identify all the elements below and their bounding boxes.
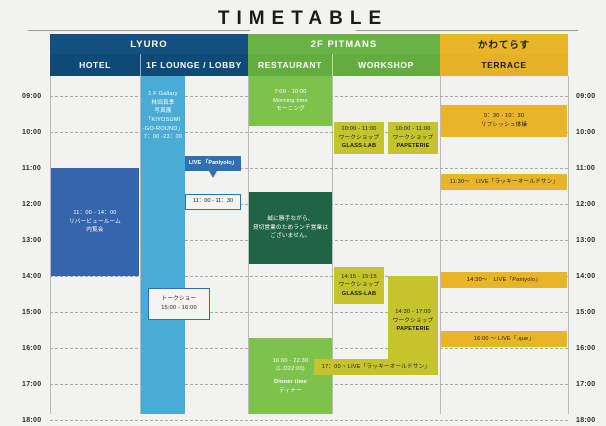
column-header-hotel: HOTEL [50, 54, 140, 76]
header-divider-2 [332, 54, 333, 76]
time-label-left-1600: 16:00 [22, 345, 41, 352]
page-title: TIMETABLE [0, 8, 606, 30]
event-line: ディナー [279, 387, 302, 396]
event-line: 9：30 - 10：30 [484, 112, 524, 121]
event-line: 15:00 - 16:00 [161, 304, 197, 313]
event-line: PAPETERIE [396, 325, 429, 334]
event-line: 林田真季 [151, 99, 174, 108]
event-restaurant-no-lunch-notice[interactable]: 誠に勝手ながら、 貸切営業のためランチ営業は ございません。 [249, 192, 332, 264]
time-label-right-1100: 11:00 [576, 165, 595, 172]
event-line: 「KIYOSUMI [146, 116, 181, 125]
time-label-right-1200: 12:00 [576, 201, 595, 208]
event-line: 10:00 - 11:00 [395, 125, 430, 134]
event-line: 1 F Gallary [148, 90, 178, 99]
event-lounge-gallery[interactable]: 1 F Gallary 林田真季 写真展 「KIYOSUMI -GO-ROUND… [141, 76, 185, 414]
event-line: 11：00 - 14：00 [73, 209, 116, 218]
event-line: ワークショップ [339, 134, 380, 143]
event-terrace-live-paniyolo[interactable]: 14:30～ LIVE「Paniyolo」 [441, 272, 567, 288]
time-label-left-1400: 14:00 [22, 273, 41, 280]
event-line: PAPETERIE [396, 142, 429, 151]
event-line: 14:15 - 15:15 [341, 273, 377, 282]
time-label-left-0900: 09:00 [22, 93, 41, 100]
time-label-left-1000: 10:00 [22, 129, 41, 136]
grid-hline-1800 [50, 420, 568, 421]
time-label-left-1800: 18:00 [22, 417, 41, 424]
event-line: Morning time [273, 97, 308, 106]
event-workshop-papeterie-am[interactable]: 10:00 - 11:00 ワークショップ PAPETERIE [388, 122, 438, 154]
event-workshop-live-lucky-old-sun[interactable]: 17：00 ~ LIVE「ラッキーオールドサン」 [314, 359, 438, 375]
timetable-grid: 09:00 10:00 11:00 12:00 13:00 14:00 15:0… [0, 76, 606, 421]
event-line: 10:00 - 11:00 [341, 125, 376, 134]
event-line: 14:30～ LIVE「Paniyolo」 [467, 276, 541, 285]
live-callout-time: 11：00 - 11：30 [185, 194, 241, 210]
time-label-right-1800: 18:00 [576, 417, 595, 424]
event-line: トークショー [162, 295, 197, 304]
event-line: 17：00 ~ LIVE「ラッキーオールドサン」 [322, 363, 430, 372]
time-label-right-1300: 13:00 [576, 237, 595, 244]
column-header-workshop: WORKSHOP [332, 54, 440, 76]
venue-header-pitmans: 2F PITMANS [248, 34, 440, 54]
event-workshop-glasslab-pm[interactable]: 14:15 - 15:15 ワークショップ GLASS-LAB [334, 267, 384, 304]
event-restaurant-dinner[interactable]: 16:00 - 22:30 (L.O22:00) Dinner time ディナ… [249, 338, 332, 414]
grid-hline-1500 [50, 312, 568, 313]
title-rule-left [28, 30, 250, 31]
event-line: 「Paniyolo」 [203, 160, 238, 166]
live-callout-head: LIVE 「Paniyolo」 [185, 156, 241, 171]
time-label-left-1700: 17:00 [22, 381, 41, 388]
event-restaurant-morning[interactable]: 7:00 - 10:00 Morning time モーニング [249, 76, 332, 126]
event-lounge-live-paniyolo[interactable]: LIVE 「Paniyolo」 11：00 - 11：30 [185, 156, 241, 171]
time-label-left-1100: 11:00 [22, 165, 41, 172]
event-line: ございません。 [270, 232, 310, 241]
venue-header-lyuro: LYURO [50, 34, 248, 54]
event-line: 7：00 -23：00 [144, 133, 183, 142]
time-label-left-1500: 15:00 [22, 309, 41, 316]
event-line: 16:00 ～ LIVE「.que」 [474, 335, 535, 344]
event-line: リバービュールーム [69, 218, 121, 227]
time-label-right-1000: 10:00 [576, 129, 595, 136]
event-workshop-glasslab-am[interactable]: 10:00 - 11:00 ワークショップ GLASS-LAB [334, 122, 384, 154]
title-rule-right [356, 30, 578, 31]
event-line: 写真展 [154, 107, 171, 116]
event-terrace-live-que[interactable]: 16:00 ～ LIVE「.que」 [441, 331, 567, 347]
event-line: 誠に勝手ながら、 [267, 215, 313, 224]
event-line: ワークショップ [393, 134, 434, 143]
event-hotel-river-view-preview[interactable]: 11：00 - 14：00 リバービュールーム 内覧会 [51, 168, 139, 276]
time-label-left-1300: 13:00 [22, 237, 41, 244]
event-line: 14:30 - 17:00 [395, 308, 431, 317]
time-label-left-1200: 12:00 [22, 201, 41, 208]
column-header-restaurant: RESTAURANT [248, 54, 332, 76]
event-line: GLASS-LAB [342, 290, 376, 299]
column-header-terrace: TERRACE [440, 54, 568, 76]
event-line: ワークショップ [339, 281, 380, 290]
time-label-right-1400: 14:00 [576, 273, 595, 280]
event-terrace-live-lucky-old-sun[interactable]: 11:30～ LIVE「ラッキーオールドサン」 [441, 174, 567, 190]
event-line: (L.O22:00) [276, 365, 305, 374]
event-line: 16:00 - 22:30 [273, 357, 309, 366]
time-label-right-1700: 17:00 [576, 381, 595, 388]
event-line: Dinner time [274, 378, 307, 387]
live-pointer-icon [209, 171, 217, 178]
header-divider-1 [140, 54, 141, 76]
event-line: 貸切営業のためランチ営業は [253, 224, 328, 233]
event-terrace-refresh-exercise[interactable]: 9：30 - 10：30 リフレッシュ体操 [441, 105, 567, 137]
event-line: リフレッシュ体操 [481, 121, 527, 130]
event-line: ワークショップ [393, 317, 434, 326]
event-line: モーニング [276, 105, 305, 114]
event-line: 内覧会 [86, 226, 103, 235]
event-line: 7:00 - 10:00 [274, 88, 306, 97]
event-line: 11:30～ LIVE「ラッキーオールドサン」 [450, 178, 559, 187]
event-line: GLASS-LAB [342, 142, 376, 151]
venue-header-kawaterasu: かわてらす [440, 34, 568, 54]
event-lounge-talk-show[interactable]: トークショー 15:00 - 16:00 [148, 288, 210, 320]
event-line: LIVE [189, 160, 201, 166]
time-label-right-1600: 16:00 [576, 345, 595, 352]
time-label-right-1500: 15:00 [576, 309, 595, 316]
time-label-right-0900: 09:00 [576, 93, 595, 100]
grid-vline-5 [568, 76, 569, 414]
event-line: -GO-ROUND」 [143, 125, 184, 134]
event-workshop-papeterie-pm[interactable]: 14:30 - 17:00 ワークショップ PAPETERIE [388, 276, 438, 366]
column-header-lounge: 1F LOUNGE / LOBBY [140, 54, 248, 76]
